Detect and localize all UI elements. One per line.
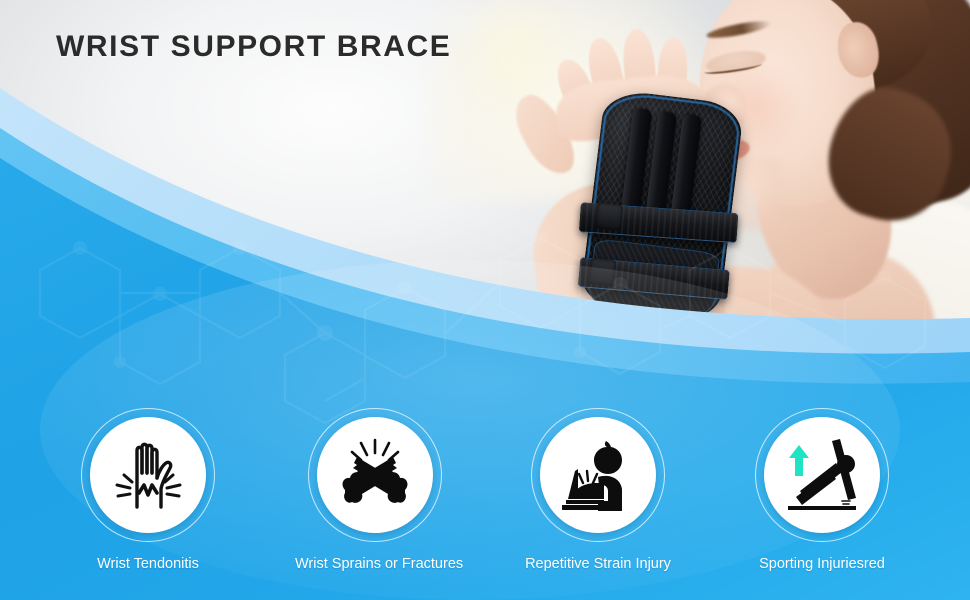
page-title: WRIST SUPPORT BRACE	[56, 30, 451, 64]
person-typing-laptop-icon	[554, 431, 642, 519]
feature-item-wrist-tendonitis[interactable]: Wrist Tendonitis	[68, 408, 228, 572]
feature-circle	[317, 417, 433, 533]
feature-circle	[90, 417, 206, 533]
feature-item-wrist-sprains[interactable]: Wrist Sprains or Fractures	[295, 408, 455, 572]
feature-circle-ring	[755, 408, 889, 542]
falling-athlete-icon	[778, 431, 866, 519]
hand-wrist-pain-icon	[106, 433, 190, 517]
product-banner: WRIST SUPPORT BRACE	[0, 0, 970, 600]
ground-line	[788, 506, 856, 510]
feature-caption: Wrist Tendonitis	[68, 556, 228, 572]
feature-circle	[540, 417, 656, 533]
feature-circle-ring	[308, 408, 442, 542]
up-arrow-icon	[789, 445, 809, 476]
feature-circle-ring	[81, 408, 215, 542]
feature-caption: Sporting Injuriesred	[742, 556, 902, 572]
feature-caption: Wrist Sprains or Fractures	[295, 556, 455, 572]
feature-caption: Repetitive Strain Injury	[518, 556, 678, 572]
feature-list: Wrist Tendonitis	[0, 408, 970, 598]
feature-item-sporting-injuries[interactable]: Sporting Injuriesred	[742, 408, 902, 572]
feature-item-repetitive-strain[interactable]: Repetitive Strain Injury	[518, 408, 678, 572]
feature-circle	[764, 417, 880, 533]
broken-bone-icon	[332, 432, 418, 518]
feature-circle-ring	[531, 408, 665, 542]
